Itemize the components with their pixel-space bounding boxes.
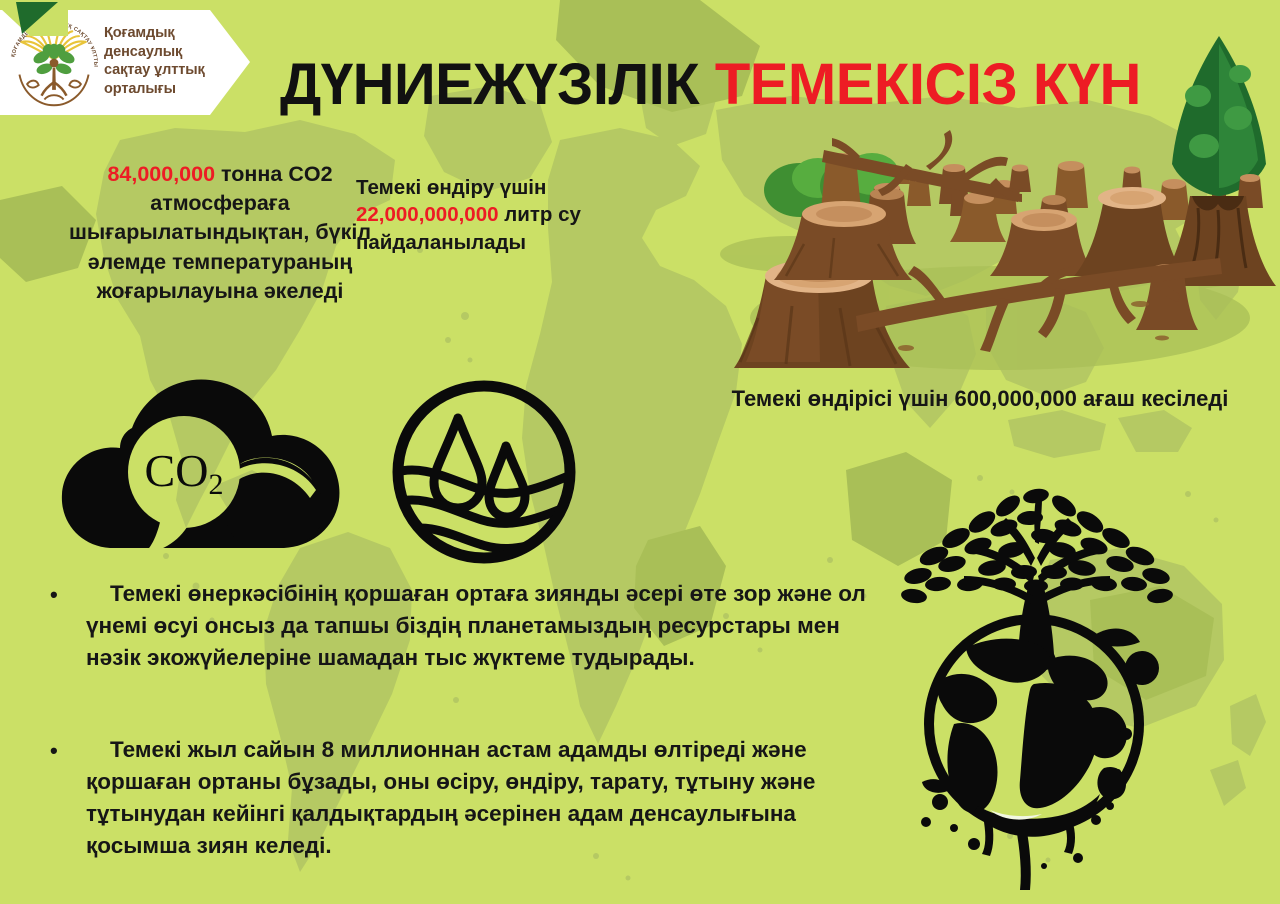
page-title-black-part: ДҮНИЕЖҮЗІЛІК	[280, 52, 699, 117]
bullet-text-2: Темекі жыл сайын 8 миллионнан астам адам…	[86, 734, 880, 862]
bullet-item-2: • Темекі жыл сайын 8 миллионнан астам ад…	[50, 734, 880, 862]
stat-water-prefix: Темекі өндіру үшін	[356, 176, 546, 199]
logo-title-line-4: орталығы	[104, 80, 224, 99]
page-title: ДҮНИЕЖҮЗІЛІК ТЕМЕКІСІЗ КҮН	[280, 56, 1160, 114]
logo-title-line-3: сақтау ұлттық	[104, 61, 224, 80]
stat-trees-text: Темекі өндірісі үшін 600,000,000 ағаш ке…	[706, 384, 1254, 414]
logo-title-line-2: денсаулық	[104, 43, 224, 62]
bullet-marker-1: •	[50, 578, 86, 610]
bullet-marker-2: •	[50, 734, 86, 766]
logo-title: Қоғамдық денсаулық сақтау ұлттық орталығ…	[104, 24, 224, 98]
page-title-red-part: ТЕМЕКІСІЗ КҮН	[715, 52, 1141, 117]
bullet-text-1: Темекі өнеркәсібінің қоршаған ортаға зия…	[86, 578, 880, 674]
stat-co2-number: 84,000,000	[107, 162, 215, 186]
logo-title-line-1: Қоғамдық	[104, 24, 224, 43]
stat-co2-text: 84,000,000 тонна CO2 атмосфераға шығарыл…	[48, 160, 392, 306]
stat-trees-number: 600,000,000	[955, 386, 1077, 411]
tree-on-globe-illustration	[878, 472, 1274, 892]
stat-water-number: 22,000,000,000	[356, 203, 499, 226]
stat-trees-suffix: ағаш кесіледі	[1077, 386, 1229, 411]
stat-trees-prefix: Темекі өндірісі үшін	[732, 386, 955, 411]
infographic-poster: ҚОҒАМДЫҚ ДЕНСАУЛЫҚ САҚТАУ ҰЛТТЫҚ ОРТАЛЫҒ…	[0, 0, 1280, 904]
bullet-item-1: • Темекі өнеркәсібінің қоршаған ортаға з…	[50, 578, 880, 674]
water-drops-circle-icon	[386, 374, 582, 570]
stat-water-text: Темекі өндіру үшін 22,000,000,000 литр с…	[356, 174, 606, 256]
corner-triangle-decoration	[0, 0, 68, 36]
co2-cloud-icon: CO2	[58, 368, 348, 564]
